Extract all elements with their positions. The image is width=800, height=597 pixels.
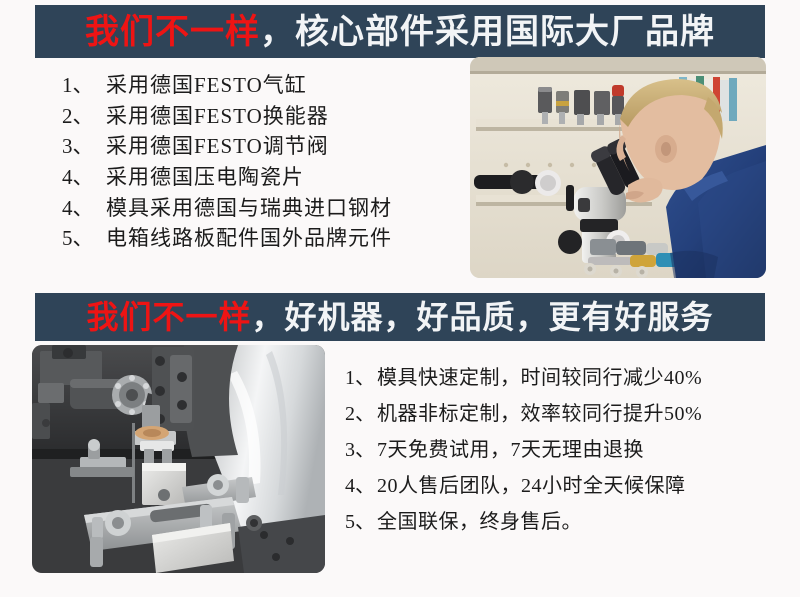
list-item: 1、 模具快速定制，时间较同行减少40% <box>345 368 775 388</box>
list-item-number: 2、 <box>62 101 106 132</box>
list-item: 4、 模具采用德国与瑞典进口钢材 <box>62 193 462 224</box>
list-item: 4、 20人售后团队，24小时全天候保障 <box>345 476 775 496</box>
list-item-number: 5、 <box>62 223 106 254</box>
list-item-text: 采用德国FESTO换能器 <box>106 101 329 132</box>
list-item-text: 采用德国FESTO调节阀 <box>106 131 329 162</box>
section-1-banner-text: 我们不一样，核心部件采用国际大厂品牌 <box>85 15 715 49</box>
list-item: 3、 7天免费试用，7天无理由退换 <box>345 440 775 460</box>
list-item-number: 4、 <box>345 476 377 496</box>
list-item-number: 1、 <box>345 368 377 388</box>
list-item: 4、 采用德国压电陶瓷片 <box>62 162 462 193</box>
list-item: 5、 电箱线路板配件国外品牌元件 <box>62 223 462 254</box>
core-components-list: 1、 采用德国FESTO气缸 2、 采用德国FESTO换能器 3、 采用德国FE… <box>62 70 462 254</box>
list-item-text: 模具快速定制，时间较同行减少40% <box>377 368 702 388</box>
list-item-number: 5、 <box>345 512 377 532</box>
list-item-number: 3、 <box>345 440 377 460</box>
list-item-text: 全国联保，终身售后。 <box>377 512 582 532</box>
list-item: 2、 机器非标定制，效率较同行提升50% <box>345 404 775 424</box>
list-item-text: 电箱线路板配件国外品牌元件 <box>106 223 392 254</box>
list-item: 2、 采用德国FESTO换能器 <box>62 101 462 132</box>
list-item-number: 4、 <box>62 162 106 193</box>
list-item: 5、 全国联保，终身售后。 <box>345 512 775 532</box>
section-2-banner: 我们不一样，好机器，好品质，更有好服务 <box>35 293 765 341</box>
list-item-text: 20人售后团队，24小时全天候保障 <box>377 476 686 496</box>
technician-microscope-photo <box>470 57 766 278</box>
section-2-banner-rest: ，好机器，好品质，更有好服务 <box>252 298 714 336</box>
list-item-text: 采用德国FESTO气缸 <box>106 70 307 101</box>
section-1-banner-rest: ，核心部件采用国际大厂品牌 <box>260 12 715 52</box>
section-1-banner: 我们不一样，核心部件采用国际大厂品牌 <box>35 5 765 58</box>
list-item-text: 采用德国压电陶瓷片 <box>106 162 304 193</box>
section-2-banner-accent: 我们不一样 <box>86 298 251 336</box>
list-item-number: 3、 <box>62 131 106 162</box>
list-item-text: 7天免费试用，7天无理由退换 <box>377 440 644 460</box>
section-2-banner-text: 我们不一样，好机器，好品质，更有好服务 <box>86 301 713 333</box>
list-item-text: 机器非标定制，效率较同行提升50% <box>377 404 702 424</box>
list-item: 3、 采用德国FESTO调节阀 <box>62 131 462 162</box>
list-item-number: 1、 <box>62 70 106 101</box>
precision-tooling-photo <box>32 345 325 573</box>
list-item-number: 2、 <box>345 404 377 424</box>
list-item: 1、 采用德国FESTO气缸 <box>62 70 462 101</box>
promotional-page: 我们不一样，核心部件采用国际大厂品牌 1、 采用德国FESTO气缸 2、 采用德… <box>0 0 800 597</box>
list-item-text: 模具采用德国与瑞典进口钢材 <box>106 193 392 224</box>
service-promise-list: 1、 模具快速定制，时间较同行减少40% 2、 机器非标定制，效率较同行提升50… <box>345 368 775 548</box>
list-item-number: 4、 <box>62 193 106 224</box>
section-1-banner-accent: 我们不一样 <box>85 12 260 52</box>
